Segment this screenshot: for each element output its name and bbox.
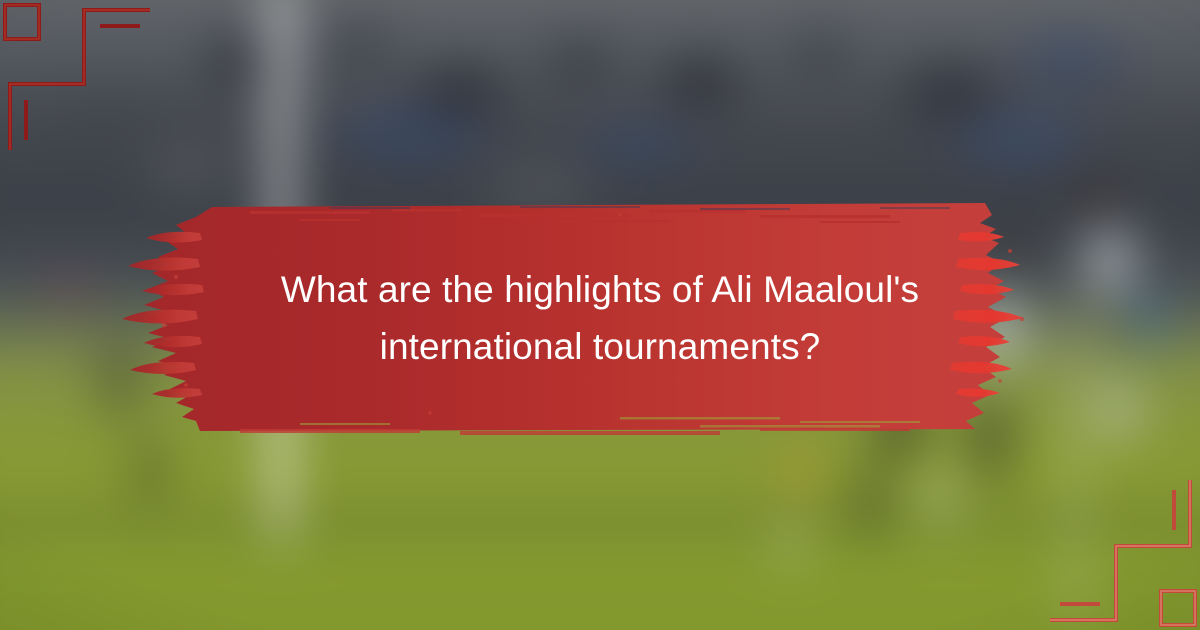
share-card: What are the highlights of Ali Maaloul's… (0, 0, 1200, 630)
corner-ornament-icon (1040, 470, 1200, 630)
brush-banner (0, 185, 1200, 450)
corner-ornament-top-left (0, 0, 160, 160)
corner-ornament-icon (0, 0, 160, 160)
brush-banner-shape (0, 185, 1200, 450)
corner-ornament-bottom-right (1040, 470, 1200, 630)
